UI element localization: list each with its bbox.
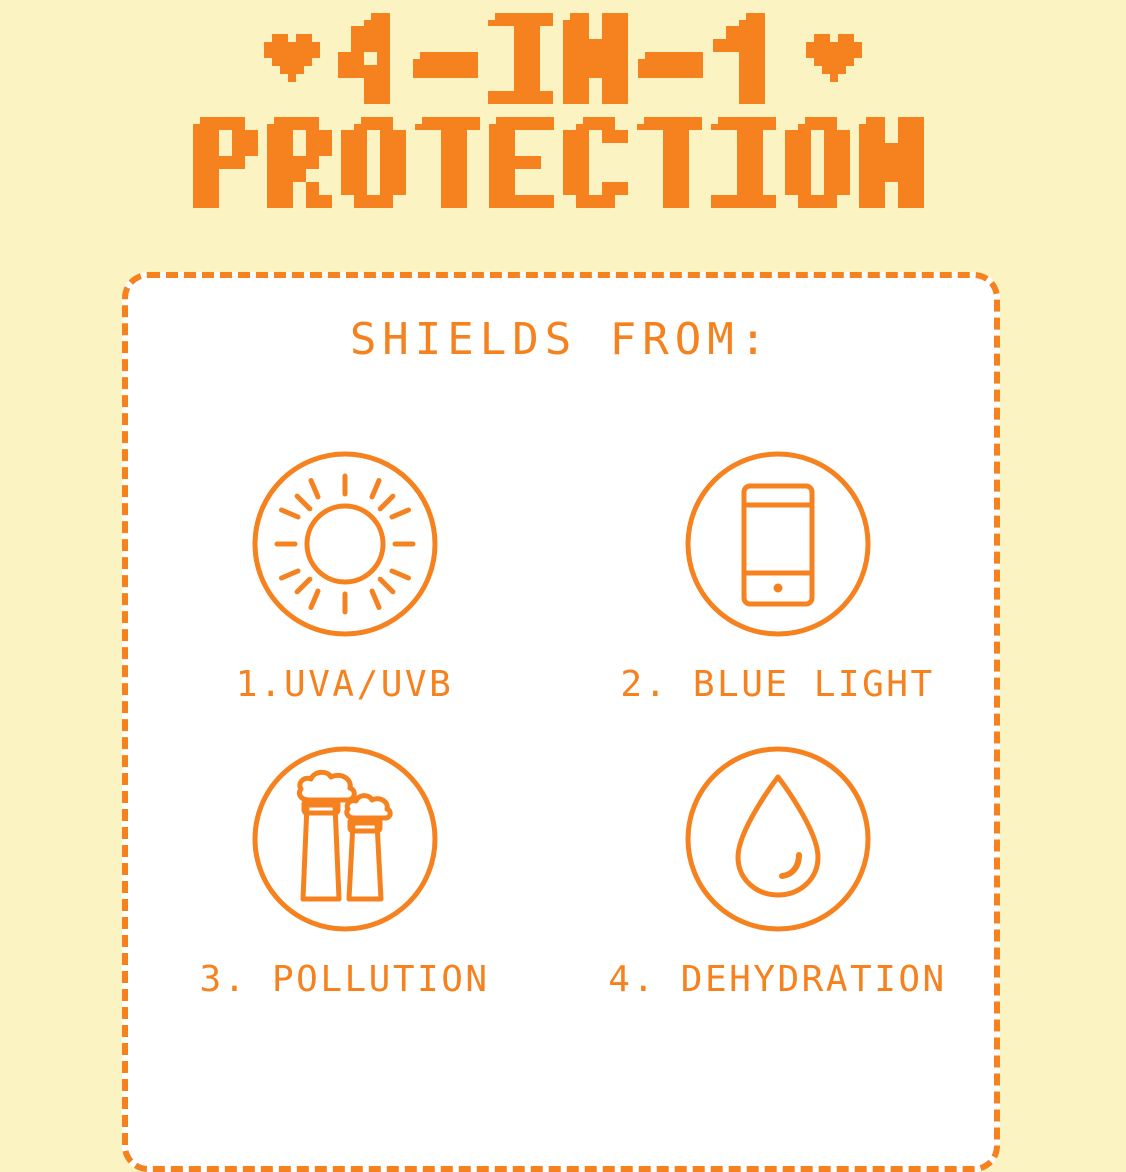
title-line-2 [0,108,1126,216]
title-line-2-text [193,117,933,208]
title-line-1-text [338,13,788,104]
title-line-1 [0,8,1126,108]
shields-from-card: SHIELDS FROM: [122,272,1000,1172]
protection-item-blue-light[interactable]: 2. BLUE LIGHT [561,448,994,733]
protection-item-label: 4. DEHYDRATION [608,959,946,1000]
title-line-1-alt: 4-IN-1 [0,0,1,1]
protection-item-label: 1.UVA/UVB [236,664,454,705]
protection-item-label: 3. POLLUTION [199,959,489,1000]
card-subtitle: SHIELDS FROM: [128,314,994,365]
water-droplet-icon [682,743,874,935]
page-title: 4-IN-1 PROTECTION [0,0,1126,240]
title-line-2-alt: PROTECTION [0,0,1,1]
protection-item-pollution[interactable]: 3. POLLUTION [128,743,561,1028]
smartphone-icon [682,448,874,640]
factory-smokestack-icon [249,743,441,935]
protection-icon-grid: 1.UVA/UVB 2. BLUE LIGHT [128,448,994,1028]
protection-item-uva-uvb[interactable]: 1.UVA/UVB [128,448,561,733]
protection-item-dehydration[interactable]: 4. DEHYDRATION [561,743,994,1028]
card-subtitle-text: SHIELDS FROM: [350,314,772,365]
heart-icon [806,34,862,82]
heart-icon [264,34,320,82]
sun-icon [249,448,441,640]
protection-item-label: 2. BLUE LIGHT [620,664,934,705]
